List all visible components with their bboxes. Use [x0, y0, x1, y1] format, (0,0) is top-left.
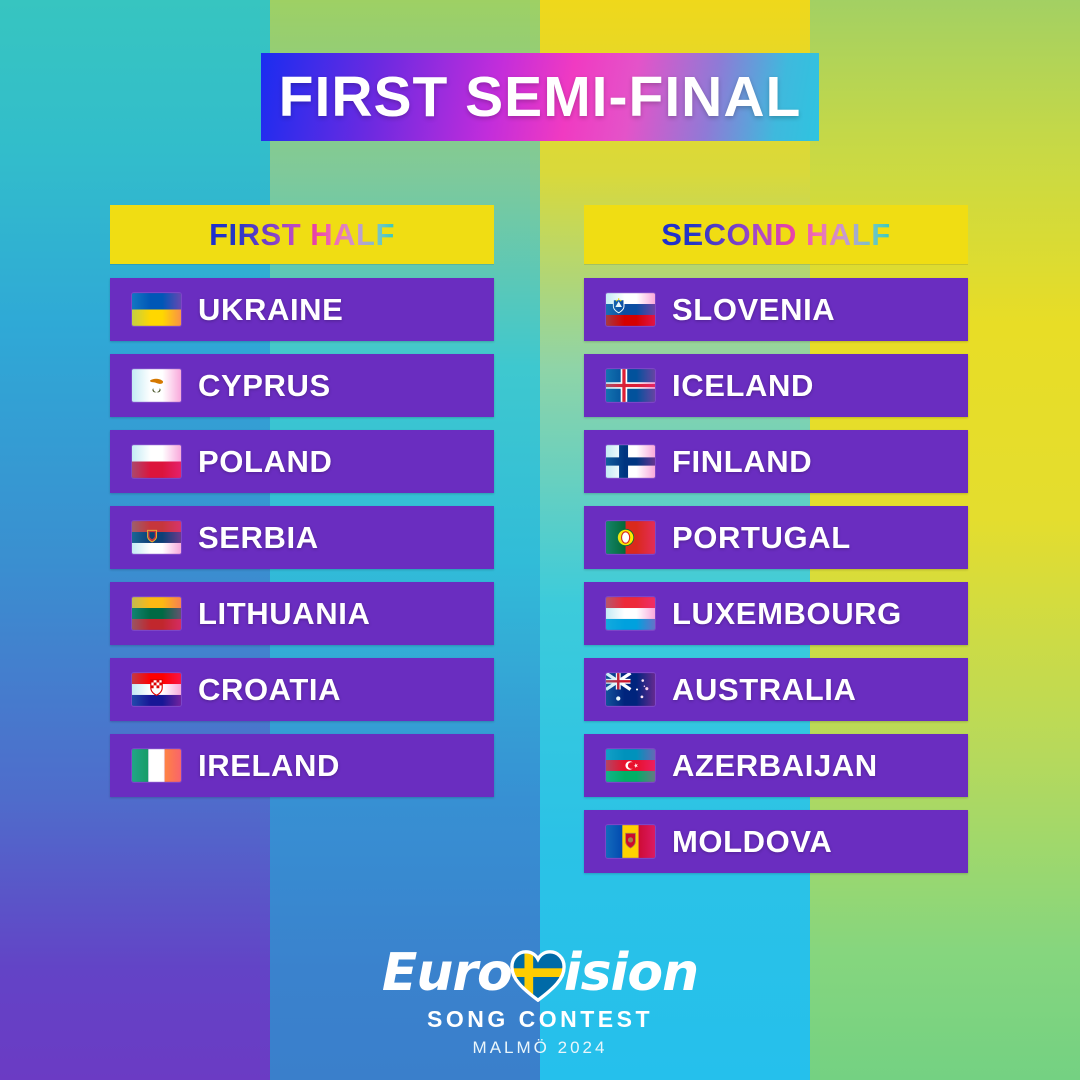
cyprus-flag-icon [132, 369, 181, 402]
poland-flag-icon [132, 445, 181, 478]
country-name: MOLDOVA [672, 824, 832, 860]
australia-flag-icon [606, 673, 655, 706]
iceland-flag-icon [606, 369, 655, 402]
lithuania-flag-icon [132, 597, 181, 630]
first-half-header-label: FIRST HALF [209, 217, 395, 253]
country-name: POLAND [198, 444, 333, 480]
second-half-list: SLOVENIA ICELAND FINLAND PORTUGAL LUXEMB [584, 278, 968, 873]
first-half-column: FIRST HALF UKRAINE CYPRUS POLAND SERBIA [110, 205, 494, 810]
country-name: IRELAND [198, 748, 340, 784]
country-name: SLOVENIA [672, 292, 835, 328]
luxembourg-flag-icon [606, 597, 655, 630]
second-half-header-label: SECOND HALF [661, 217, 890, 253]
title-banner: FIRST SEMI-FINAL [261, 53, 819, 141]
country-name: AZERBAIJAN [672, 748, 878, 784]
list-item[interactable]: SLOVENIA [584, 278, 968, 341]
list-item[interactable]: UKRAINE [110, 278, 494, 341]
slovenia-flag-icon [606, 293, 655, 326]
croatia-flag-icon [132, 673, 181, 706]
eurovision-wordmark: Euro ision [382, 946, 698, 1000]
list-item[interactable]: POLAND [110, 430, 494, 493]
swedish-flag-heart-icon [509, 948, 567, 1002]
country-name: CROATIA [198, 672, 341, 708]
logo-city-year: MALMÖ 2024 [473, 1038, 608, 1058]
second-half-header: SECOND HALF [584, 205, 968, 264]
list-item[interactable]: CROATIA [110, 658, 494, 721]
country-name: LUXEMBOURG [672, 596, 902, 632]
country-name: FINLAND [672, 444, 812, 480]
serbia-flag-icon [132, 521, 181, 554]
list-item[interactable]: LUXEMBOURG [584, 582, 968, 645]
country-name: UKRAINE [198, 292, 343, 328]
list-item[interactable]: IRELAND [110, 734, 494, 797]
eurovision-logo: Euro ision SONG CONTEST MALMÖ 2024 [0, 946, 1080, 1058]
country-name: ICELAND [672, 368, 814, 404]
first-half-header: FIRST HALF [110, 205, 494, 264]
ukraine-flag-icon [132, 293, 181, 326]
list-item[interactable]: ICELAND [584, 354, 968, 417]
moldova-flag-icon [606, 825, 655, 858]
logo-word-left: Euro [382, 947, 512, 999]
finland-flag-icon [606, 445, 655, 478]
second-half-column: SECOND HALF SLOVENIA ICELAND FINLAND PO [584, 205, 968, 886]
list-item[interactable]: FINLAND [584, 430, 968, 493]
logo-subtitle: SONG CONTEST [427, 1006, 653, 1033]
logo-word-right: ision [564, 947, 698, 999]
list-item[interactable]: AZERBAIJAN [584, 734, 968, 797]
list-item[interactable]: CYPRUS [110, 354, 494, 417]
list-item[interactable]: LITHUANIA [110, 582, 494, 645]
azerbaijan-flag-icon [606, 749, 655, 782]
list-item[interactable]: PORTUGAL [584, 506, 968, 569]
list-item[interactable]: AUSTRALIA [584, 658, 968, 721]
country-name: SERBIA [198, 520, 319, 556]
country-name: CYPRUS [198, 368, 331, 404]
country-name: LITHUANIA [198, 596, 370, 632]
page-title: FIRST SEMI-FINAL [279, 69, 802, 126]
list-item[interactable]: SERBIA [110, 506, 494, 569]
first-half-list: UKRAINE CYPRUS POLAND SERBIA LITHUANIA [110, 278, 494, 797]
portugal-flag-icon [606, 521, 655, 554]
ireland-flag-icon [132, 749, 181, 782]
country-name: PORTUGAL [672, 520, 851, 556]
country-name: AUSTRALIA [672, 672, 857, 708]
list-item[interactable]: MOLDOVA [584, 810, 968, 873]
